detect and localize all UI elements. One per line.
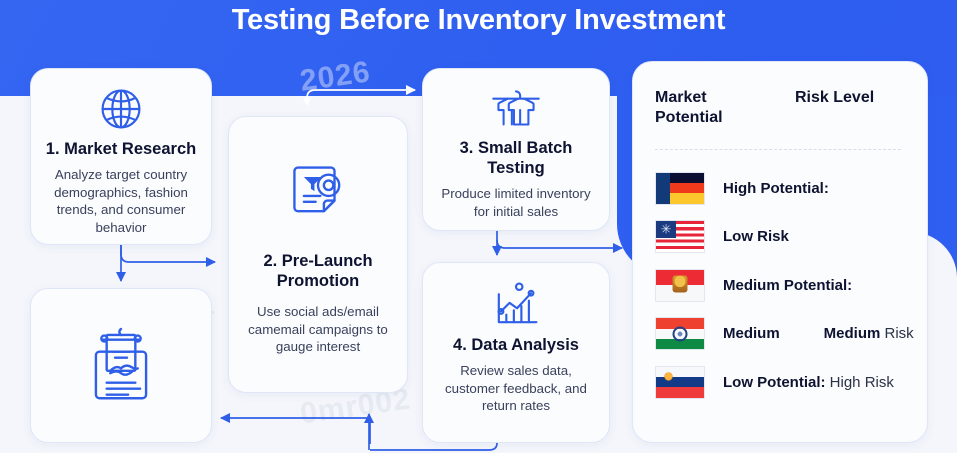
card-body: Review sales data, customer feedback, an… xyxy=(433,362,599,415)
card-pre-launch-promotion[interactable]: 2. Pre-Launch Promotion Use social ads/e… xyxy=(228,116,408,393)
card-title: 2. Pre-Launch Promotion xyxy=(241,251,395,291)
card-title: 4. Data Analysis xyxy=(433,335,599,355)
row-potential: Low Risk xyxy=(723,228,789,245)
panel-header-line1: Market xyxy=(655,88,795,108)
panel-rows: High Potential: ✳ Low Risk Medium P xyxy=(655,164,927,407)
panel-row-germany[interactable]: High Potential: xyxy=(655,164,927,213)
panel-row-russia[interactable]: Low Potential: High Risk xyxy=(655,358,927,407)
panel-header-market-potential: Market Potential xyxy=(655,88,795,129)
row-label: Medium Potential: xyxy=(723,277,852,294)
card-market-research[interactable]: 1. Market Research Analyze target countr… xyxy=(30,68,212,245)
row-risk-light: Risk xyxy=(880,325,913,342)
panel-divider xyxy=(655,149,901,150)
row-potential: Medium Potential: xyxy=(723,277,852,294)
panel-row-united-states[interactable]: ✳ Low Risk xyxy=(655,212,927,261)
india-flag xyxy=(655,317,705,350)
card-body: Use social ads/email camemail campaigns … xyxy=(241,303,395,356)
market-risk-panel: Market Potential Risk Level High Potenti… xyxy=(632,61,928,443)
page-title: Testing Before Inventory Investment xyxy=(0,4,957,37)
card-contract-agreement[interactable] xyxy=(30,288,212,443)
panel-row-india[interactable]: MediumMedium Risk xyxy=(655,309,927,358)
card-body: Analyze target country demographics, fas… xyxy=(41,166,201,236)
card-data-analysis[interactable]: 4. Data Analysis Review sales data, cust… xyxy=(422,262,610,443)
row-risk-light: High Risk xyxy=(830,374,894,391)
panel-row-indonesia[interactable]: Medium Potential: xyxy=(655,261,927,310)
card-body: Produce limited inventory for initial sa… xyxy=(433,185,599,220)
panel-header-risk-level: Risk Level xyxy=(795,88,874,108)
card-title: 1. Market Research xyxy=(41,139,201,159)
clipboard-handshake-icon xyxy=(78,323,164,409)
row-potential: Low Potential: xyxy=(723,374,826,391)
russia-flag xyxy=(655,366,705,399)
globe-icon xyxy=(41,83,201,135)
infographic-root: 2026 0mr002 2026/04 0mr002 2026 Testing … xyxy=(0,0,957,453)
row-risk-bold: Medium xyxy=(824,325,881,342)
indonesia-flag xyxy=(655,269,705,302)
row-label: Low Risk xyxy=(723,228,789,245)
row-potential: High Potential: xyxy=(723,180,829,197)
card-title: 3. Small Batch Testing xyxy=(433,138,599,178)
united-states-flag: ✳ xyxy=(655,220,705,253)
bar-chart-icon xyxy=(433,279,599,331)
row-label: MediumMedium Risk xyxy=(723,325,914,342)
row-potential: Medium xyxy=(723,325,780,342)
card-small-batch-testing[interactable]: 3. Small Batch Testing Produce limited i… xyxy=(422,68,610,231)
germany-flag xyxy=(655,172,705,205)
panel-header: Market Potential Risk Level xyxy=(655,88,927,129)
panel-header-line2: Potential xyxy=(655,108,795,128)
row-label: High Potential: xyxy=(723,180,829,197)
document-search-icon xyxy=(241,157,395,223)
row-label: Low Potential: High Risk xyxy=(723,374,894,391)
clothes-hanger-icon xyxy=(433,83,599,135)
